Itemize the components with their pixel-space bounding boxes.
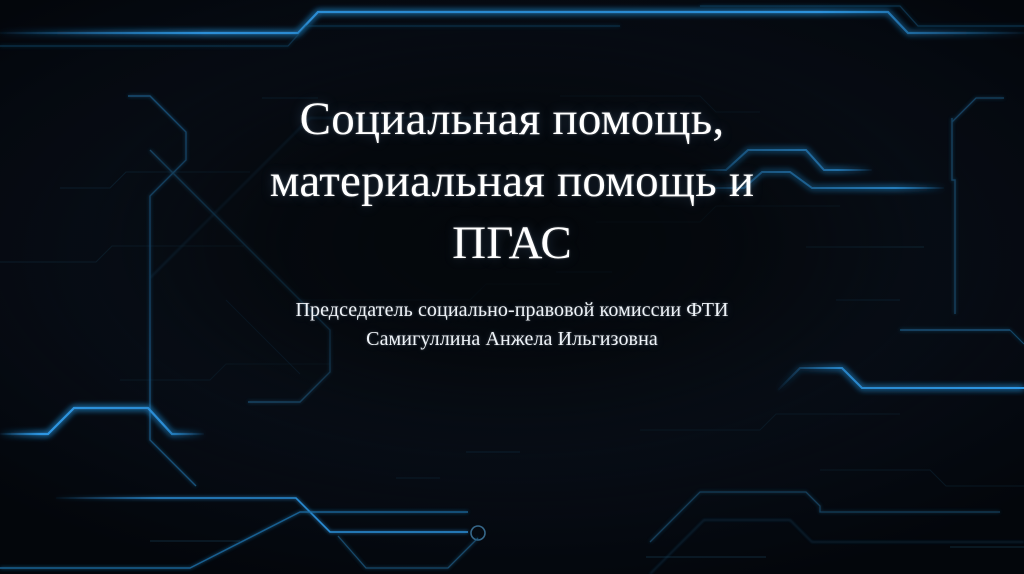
- slide-title-line-2: материальная помощь и: [90, 150, 934, 212]
- slide-title-line-3: ПГАС: [90, 212, 934, 274]
- slide-subtitle-line-2: Самигуллина Анжела Ильгизовна: [60, 325, 964, 354]
- circuit-trace-left-trapezoid: [0, 408, 204, 434]
- slide-subtitle-line-1: Председатель социально-правовой комиссии…: [60, 296, 964, 325]
- slide-title-line-1: Социальная помощь,: [90, 88, 934, 150]
- circuit-trace-right-trapezoid: [778, 368, 1024, 390]
- title-slide: Социальная помощь, материальная помощь и…: [0, 0, 1024, 574]
- circuit-trace-top: [0, 12, 1024, 33]
- circuit-background: [0, 0, 1024, 574]
- circuit-node-dot: [471, 526, 485, 540]
- slide-subtitle: Председатель социально-правовой комиссии…: [0, 296, 1024, 354]
- circuit-trace-node-run: [56, 498, 468, 532]
- slide-title: Социальная помощь, материальная помощь и…: [0, 88, 1024, 274]
- circuit-trace-bottom-trapezoid: [338, 536, 478, 568]
- circuit-trace-lower-right-trapezoid: [650, 492, 1000, 542]
